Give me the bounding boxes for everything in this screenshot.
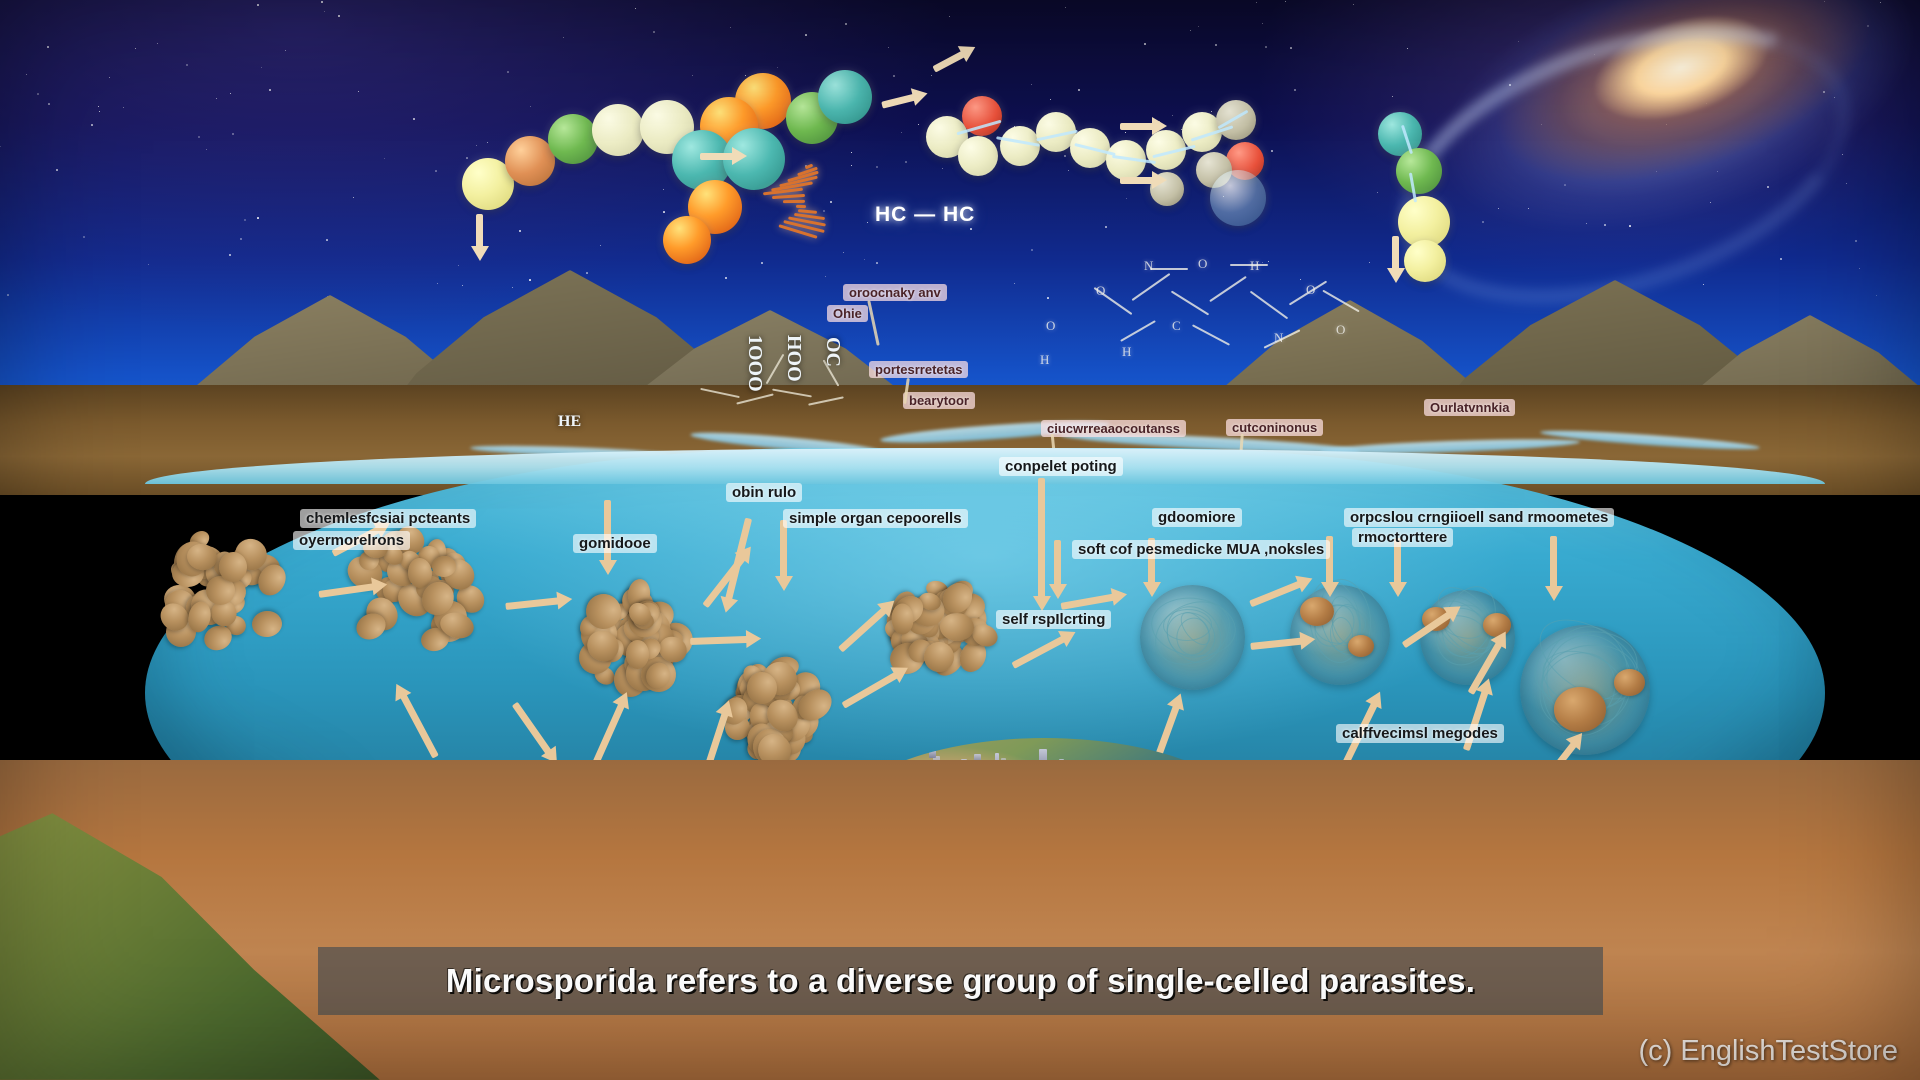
star-dot	[1031, 84, 1032, 85]
star-dot	[413, 118, 415, 120]
dna-rung	[783, 200, 805, 203]
star-dot	[1285, 1, 1286, 2]
star-dot	[888, 47, 889, 48]
land-callout-label: ciucwrreaaocoutanss	[1041, 420, 1186, 437]
bond-line	[1150, 268, 1188, 270]
star-dot	[1068, 170, 1069, 171]
ocean-callout-label: gdoomiore	[1152, 508, 1242, 527]
star-dot	[901, 132, 902, 133]
star-dot	[476, 145, 477, 146]
chem-symbol: O	[1198, 256, 1207, 272]
arrow-shaft	[1550, 536, 1557, 588]
star-dot	[99, 111, 100, 112]
arrow-shaft	[1054, 540, 1061, 586]
star-dot	[358, 91, 359, 92]
ocean-callout-label: self rspIlcrting	[996, 610, 1111, 629]
land-callout-label: portesrretetas	[869, 361, 968, 378]
star-dot	[1377, 192, 1378, 193]
organelle-nucleus	[1300, 597, 1334, 626]
ocean-callout-label: gomidooe	[573, 534, 657, 553]
star-dot	[321, 1, 323, 3]
star-dot	[851, 152, 852, 153]
arrow-head	[746, 630, 762, 649]
star-dot	[942, 168, 943, 169]
land-callout-label: oroocnaky anv	[843, 284, 947, 301]
star-dot	[949, 16, 950, 17]
ocean-callout-label: simple organ cepoorells	[783, 509, 968, 528]
ocean-callout-label: obin rulo	[726, 483, 802, 502]
star-dot	[269, 89, 271, 91]
ocean-callout-label: conpelet poting	[999, 457, 1123, 476]
star-dot	[487, 142, 488, 143]
organelle-nucleus	[1554, 687, 1606, 731]
ocean-callout-label: calffvecimsl megodes	[1336, 724, 1504, 743]
molecule-atom	[1216, 100, 1256, 140]
chem-symbol: O	[1306, 282, 1315, 298]
star-dot	[56, 169, 58, 171]
star-dot	[730, 27, 731, 28]
arrow-head	[1321, 582, 1339, 597]
city-structure	[929, 749, 936, 758]
molecule-atom	[818, 70, 872, 124]
star-dot	[1126, 198, 1127, 199]
chem-symbol: H	[1040, 352, 1049, 368]
star-dot	[1215, 44, 1217, 46]
star-dot	[845, 23, 847, 25]
star-dot	[157, 43, 158, 44]
chem-symbol: H	[1250, 258, 1259, 274]
star-dot	[563, 37, 564, 38]
subtitle-bar: Microsporida refers to a diverse group o…	[318, 947, 1603, 1015]
star-dot	[663, 211, 665, 213]
ocean-callout-label: rmoctorttere	[1352, 528, 1453, 547]
star-dot	[261, 67, 262, 68]
chem-symbol: N	[1144, 258, 1153, 274]
arrow-shaft	[780, 520, 787, 578]
star-dot	[1065, 7, 1066, 8]
star-dot	[905, 161, 907, 163]
arrow-head	[556, 590, 573, 609]
star-dot	[1125, 132, 1126, 133]
star-dot	[0, 146, 1, 147]
vesicle-empty	[1140, 585, 1245, 690]
bond-line	[1230, 264, 1268, 266]
star-dot	[777, 67, 778, 68]
star-dot	[232, 133, 234, 135]
land-callout-label: Ourlatvnnkia	[1424, 399, 1515, 416]
watermark-text: (c) EnglishTestStore	[1639, 1035, 1899, 1068]
organelle-nucleus	[1348, 635, 1374, 657]
star-dot	[206, 149, 207, 150]
arrow-head	[732, 147, 747, 165]
dna-rung	[772, 194, 805, 199]
ocean-callout-label: chemlesfcsiai pcteants	[300, 509, 476, 528]
molecule-atom	[548, 114, 598, 164]
star-dot	[1271, 150, 1273, 152]
chem-column-left: 1OOO	[745, 335, 765, 392]
star-dot	[216, 98, 217, 99]
star-dot	[384, 158, 385, 159]
arrow-head	[1152, 171, 1167, 189]
star-dot	[530, 106, 531, 107]
arrow-shaft	[1120, 177, 1154, 184]
star-dot	[48, 103, 50, 105]
arrow-head	[1143, 582, 1161, 597]
star-dot	[1064, 155, 1066, 157]
star-dot	[186, 64, 188, 66]
star-dot	[91, 124, 93, 126]
chem-symbol: O	[1336, 322, 1345, 338]
ocean-callout-label: oyermorelrons	[293, 531, 410, 550]
star-dot	[257, 4, 259, 6]
star-dot	[1050, 99, 1051, 100]
organelle-nucleus	[1614, 669, 1645, 696]
star-dot	[109, 77, 110, 78]
star-dot	[1198, 26, 1199, 27]
star-dot	[1294, 89, 1296, 91]
chem-symbol: N	[1274, 330, 1283, 346]
star-dot	[1190, 30, 1191, 31]
arrow-shaft	[1120, 123, 1154, 130]
arrow-shaft	[700, 153, 734, 160]
subtitle-text: Microsporida refers to a diverse group o…	[446, 962, 1475, 1000]
star-dot	[1353, 4, 1354, 5]
he-marker-label: HE	[558, 412, 581, 432]
star-dot	[47, 46, 49, 48]
star-dot	[663, 189, 664, 190]
star-dot	[893, 75, 895, 77]
star-dot	[353, 197, 354, 198]
chem-symbol: O	[1046, 318, 1055, 334]
chem-column-mid: HOO	[784, 335, 804, 382]
star-dot	[635, 8, 636, 9]
star-dot	[931, 75, 932, 76]
chem-symbol: H	[1122, 344, 1131, 360]
molecule-atom	[1396, 148, 1442, 194]
arrow-head	[371, 575, 388, 595]
illustration-canvas: HC — HC ONOOHCHNOOH 1OOO HOO OC HE orooc…	[0, 0, 1920, 1080]
star-dot	[123, 107, 124, 108]
dna-rung	[796, 205, 806, 208]
city-structure	[895, 748, 900, 755]
star-dot	[135, 48, 136, 49]
star-dot	[805, 34, 807, 36]
star-dot	[435, 170, 437, 172]
arrow-head	[1389, 582, 1407, 597]
arrow-head	[1299, 630, 1316, 649]
arrow-head	[1545, 586, 1563, 601]
arrow-head	[1152, 117, 1167, 135]
star-dot	[745, 75, 746, 76]
arrow-head	[599, 560, 617, 575]
star-dot	[37, 93, 39, 95]
star-dot	[653, 31, 655, 33]
star-dot	[1078, 89, 1080, 91]
star-dot	[507, 71, 509, 73]
land-callout-label: bearytoor	[903, 392, 975, 409]
star-dot	[692, 75, 693, 76]
star-dot	[324, 11, 325, 12]
star-dot	[1144, 43, 1146, 45]
star-dot	[1172, 115, 1173, 116]
arrow-head	[1049, 584, 1067, 599]
star-dot	[1262, 23, 1263, 24]
star-dot	[876, 166, 878, 168]
star-dot	[26, 74, 27, 75]
star-dot	[230, 93, 231, 94]
star-dot	[98, 106, 99, 107]
star-dot	[1256, 2, 1257, 3]
chem-symbol: C	[1172, 318, 1181, 334]
star-dot	[1290, 47, 1292, 49]
star-dot	[1211, 111, 1212, 112]
ocean-callout-label: orpcslou crngiioell sand rmoometes	[1344, 508, 1614, 527]
star-dot	[918, 124, 919, 125]
molecule-atom	[592, 104, 644, 156]
arrow-head	[775, 576, 793, 591]
ocean-callout-label: soft cof pesmedicke MUA ,noksles	[1072, 540, 1330, 559]
star-dot	[198, 136, 200, 138]
chem-column-right: OC	[823, 337, 843, 367]
star-dot	[285, 50, 286, 51]
land-callout-label: Ohie	[827, 305, 868, 322]
star-dot	[1265, 46, 1267, 48]
molecule-atom	[958, 136, 998, 176]
star-dot	[466, 157, 468, 159]
arrow-head	[1111, 585, 1129, 605]
arrow-shaft	[1038, 478, 1045, 598]
star-dot	[338, 15, 340, 17]
chem-symbol: O	[1096, 283, 1105, 299]
